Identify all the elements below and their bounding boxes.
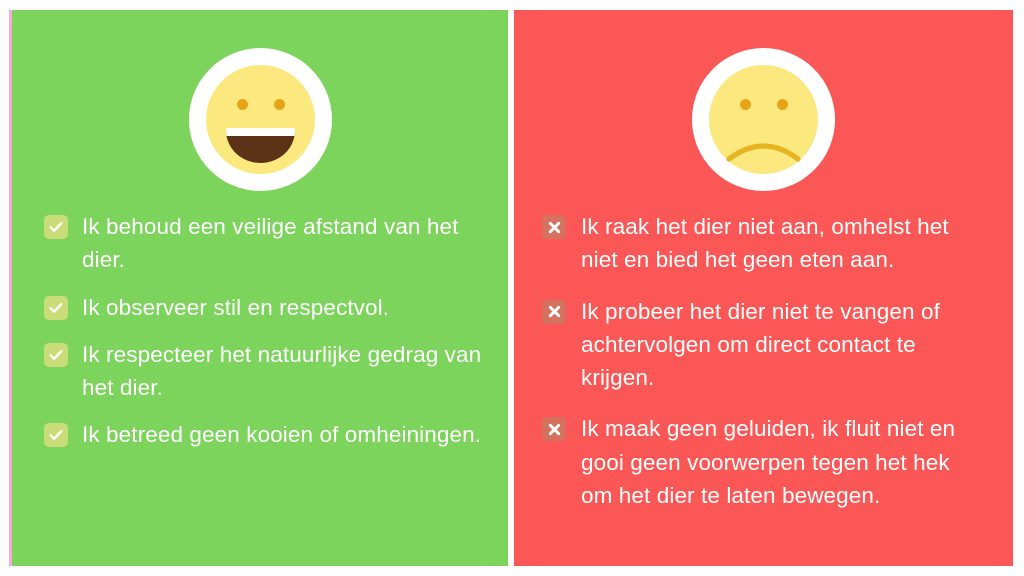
list-item-label: Ik raak het dier niet aan, omhelst het n… — [581, 210, 979, 277]
right-eye-icon — [274, 99, 285, 110]
list-item-label: Ik respecteer het natuurlijke gedrag van… — [82, 338, 482, 405]
check-icon — [44, 343, 68, 367]
check-icon — [44, 423, 68, 447]
right-eye-icon — [777, 99, 788, 110]
teeth-strip — [226, 128, 295, 136]
list-item[interactable]: Ik behoud een veilige afstand van het di… — [44, 210, 482, 277]
list-item-label: Ik observeer stil en respectvol. — [82, 291, 389, 324]
list-item-label: Ik behoud een veilige afstand van het di… — [82, 210, 482, 277]
left-eye-icon — [740, 99, 751, 110]
list-item[interactable]: Ik maak geen geluiden, ik fluit niet en … — [542, 412, 979, 512]
dont-panel[interactable]: Ik raak het dier niet aan, omhelst het n… — [514, 10, 1013, 566]
frown-mouth-icon — [725, 132, 802, 166]
list-item-label: Ik probeer het dier niet te vangen of ac… — [581, 295, 979, 395]
happy-face-container — [12, 48, 508, 191]
cross-icon — [542, 215, 566, 239]
sad-face-icon — [692, 48, 835, 191]
slide-canvas: Ik behoud een veilige afstand van het di… — [0, 0, 1024, 576]
list-item-label: Ik betreed geen kooien of omheiningen. — [82, 418, 481, 451]
do-list: Ik behoud een veilige afstand van het di… — [12, 210, 508, 452]
list-item[interactable]: Ik observeer stil en respectvol. — [44, 291, 482, 324]
left-eye-icon — [237, 99, 248, 110]
check-icon — [44, 215, 68, 239]
list-item[interactable]: Ik respecteer het natuurlijke gedrag van… — [44, 338, 482, 405]
list-item[interactable]: Ik probeer het dier niet te vangen of ac… — [542, 295, 979, 395]
check-icon — [44, 296, 68, 320]
happy-face-icon — [189, 48, 332, 191]
cross-icon — [542, 417, 566, 441]
sad-face-container — [514, 48, 1013, 191]
do-panel[interactable]: Ik behoud een veilige afstand van het di… — [12, 10, 508, 566]
list-item[interactable]: Ik raak het dier niet aan, omhelst het n… — [542, 210, 979, 277]
list-item-label: Ik maak geen geluiden, ik fluit niet en … — [581, 412, 979, 512]
list-item[interactable]: Ik betreed geen kooien of omheiningen. — [44, 418, 482, 451]
cross-icon — [542, 300, 566, 324]
dont-list: Ik raak het dier niet aan, omhelst het n… — [514, 210, 1013, 512]
